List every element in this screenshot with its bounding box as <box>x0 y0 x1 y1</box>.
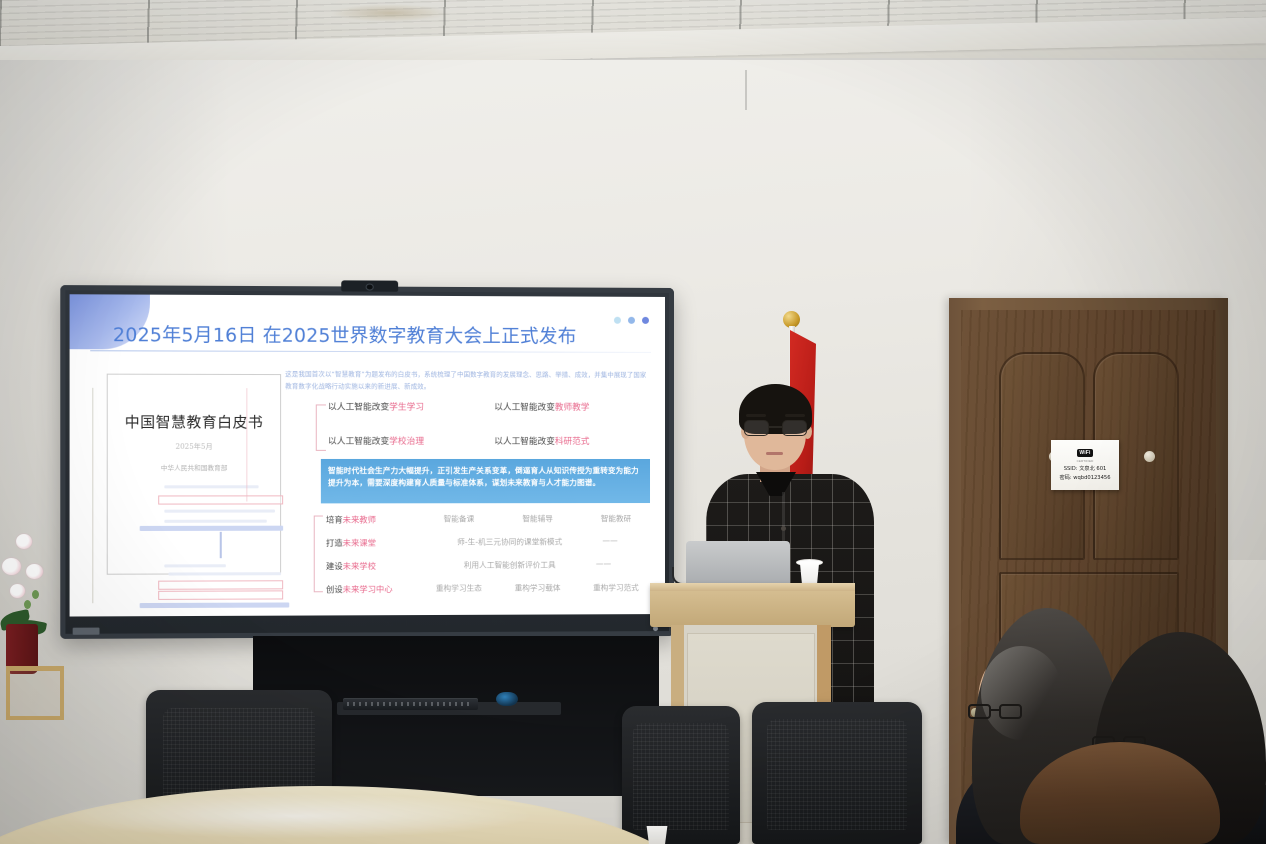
slide-dot-decoration <box>614 317 649 324</box>
wifi-logo-icon: WiFi <box>1077 449 1092 457</box>
matrix-row-cells-4: 重构学习生态 重构学习载体 重构学习范式 <box>419 582 655 595</box>
diagram-line <box>164 510 275 513</box>
wifi-certified-text: CERTIFIED <box>1077 459 1094 463</box>
whitepaper-cover: 中国智慧教育白皮书 2025年5月 中华人民共和国教育部 <box>107 374 281 575</box>
chair-right[interactable] <box>752 702 922 844</box>
laptop[interactable] <box>686 541 790 586</box>
table-reflection <box>60 794 530 838</box>
diagram-connector <box>220 532 222 558</box>
matrix-cell: 智能教研 <box>601 513 631 525</box>
podium-top-surface <box>650 583 855 627</box>
diagram-box <box>158 580 283 590</box>
diagram-line <box>164 485 258 488</box>
matrix-cell: 智能备课 <box>444 513 475 525</box>
diagram-connector-pink <box>246 388 247 501</box>
whitepaper-cover-date: 2025年5月 <box>108 442 280 452</box>
eyeglasses-icon <box>968 704 1022 720</box>
eyeglass-bridge <box>769 426 782 428</box>
diagram-bar <box>140 526 283 531</box>
wifi-ssid-line: SSID: 文泉北 601 <box>1064 465 1107 472</box>
matrix-cell: —— <box>596 559 611 571</box>
diagram-spine <box>92 388 93 603</box>
eyeglass-lens-left <box>968 704 991 719</box>
plant-stand <box>6 666 64 720</box>
matrix-cell: 利用人工智能创新评价工具 <box>464 559 556 571</box>
chair-mesh <box>767 719 906 830</box>
slide-callout-box: 智能时代社会生产力大幅提升，正引发生产关系变革，倒逼育人从知识传授为重转变为能力… <box>321 459 650 503</box>
matrix-cell: —— <box>602 536 617 548</box>
ai-change-item-1: 以人工智能改变学生学习 <box>328 400 480 412</box>
orchid-bloom <box>10 584 25 598</box>
diagram-bar <box>140 602 290 608</box>
future-education-matrix: 培育未来教师 智能备课 智能辅导 智能教研 打造未来课堂 师-生-机三元协同的课… <box>326 513 655 595</box>
slide-intro-paragraph: 这是我国首次以“智慧教育”为题发布的白皮书，系统梳理了中国数字教育的发展理念、思… <box>285 368 647 394</box>
ai-change-item-3: 以人工智能改变学校治理 <box>328 435 480 447</box>
wifi-info-sign: WiFi CERTIFIED SSID: 文泉北 601 密码: wqbd012… <box>1051 440 1119 490</box>
matrix-row-cells-3: 利用人工智能创新评价工具 —— <box>419 559 655 572</box>
ai-change-items: 以人工智能改变学生学习 以人工智能改变教师教学 以人工智能改变学校治理 以人工智… <box>328 400 661 447</box>
quad-bracket <box>316 404 326 450</box>
chair-middle[interactable] <box>622 706 740 844</box>
matrix-row-label-3: 建设未来学校 <box>326 560 419 572</box>
slide-title: 2025年5月16日 在2025世界数字教育大会上正式发布 <box>113 321 577 349</box>
display-brand-logo <box>73 628 100 635</box>
diagram-box <box>158 590 283 600</box>
matrix-bracket <box>314 516 323 593</box>
whitepaper-cover-title: 中国智慧教育白皮书 <box>108 411 280 432</box>
board-camera <box>341 280 398 291</box>
presenter-mouth <box>766 452 783 455</box>
orchid-bud <box>24 600 31 609</box>
shirt-button <box>781 526 786 531</box>
keyboard[interactable] <box>343 698 478 710</box>
matrix-cell: 重构学习生态 <box>436 583 482 595</box>
diagram-line <box>164 520 266 523</box>
matrix-row-label-1: 培育未来教师 <box>326 513 419 525</box>
orchid-bloom <box>16 534 32 549</box>
interactive-smartboard[interactable]: 2025年5月16日 在2025世界数字教育大会上正式发布 中国智慧教育白皮书 … <box>60 285 674 639</box>
presentation-room-photo: 2025年5月16日 在2025世界数字教育大会上正式发布 中国智慧教育白皮书 … <box>0 0 1266 844</box>
matrix-row-cells-2: 师-生-机三元协同的课堂新模式 —— <box>419 536 655 549</box>
eyeglass-bridge <box>991 709 999 711</box>
whitepaper-cover-org: 中华人民共和国教育部 <box>108 462 280 472</box>
matrix-cell: 智能辅导 <box>522 513 553 525</box>
orchid-bloom <box>2 558 21 575</box>
orchid-bloom <box>26 564 43 579</box>
diagram-line <box>164 564 226 567</box>
ceiling-stain <box>330 4 450 22</box>
diagram-box <box>158 495 283 504</box>
matrix-cell: 师-生-机三元协同的课堂新模式 <box>457 536 562 548</box>
matrix-cell: 重构学习载体 <box>515 582 561 594</box>
eyeglasses-icon <box>744 420 807 437</box>
ai-change-item-2: 以人工智能改变教师教学 <box>494 401 661 413</box>
chair-mesh <box>633 723 730 831</box>
eyeglass-lens-left <box>744 420 769 436</box>
audience-member-3 <box>1020 742 1220 844</box>
wall-seam <box>745 70 747 110</box>
door-stud-right <box>1144 451 1155 462</box>
presenter-eyebrow-left <box>746 414 766 417</box>
presenter-eyebrow-right <box>785 414 805 417</box>
wifi-logo-text: WiFi <box>1079 449 1090 457</box>
apple-logo-icon <box>732 556 745 571</box>
matrix-row-label-2: 打造未来课堂 <box>326 537 419 549</box>
eyeglass-lens-right <box>782 420 807 436</box>
mouse[interactable] <box>496 692 518 706</box>
orchid-bud <box>32 590 39 599</box>
audience-hair <box>1020 742 1220 844</box>
matrix-row-cells-1: 智能备课 智能辅导 智能教研 <box>419 513 655 525</box>
matrix-row-label-4: 创设未来学习中心 <box>326 583 419 595</box>
diagram-line <box>168 572 281 575</box>
presentation-slide: 2025年5月16日 在2025世界数字教育大会上正式发布 中国智慧教育白皮书 … <box>70 294 665 616</box>
ai-change-item-4: 以人工智能改变科研范式 <box>494 435 661 447</box>
slide-title-underline <box>90 350 651 353</box>
matrix-cell: 重构学习范式 <box>593 582 639 594</box>
wifi-password-line: 密码: wqbd0123456 <box>1060 474 1111 481</box>
eyeglass-lens-right <box>999 704 1022 719</box>
